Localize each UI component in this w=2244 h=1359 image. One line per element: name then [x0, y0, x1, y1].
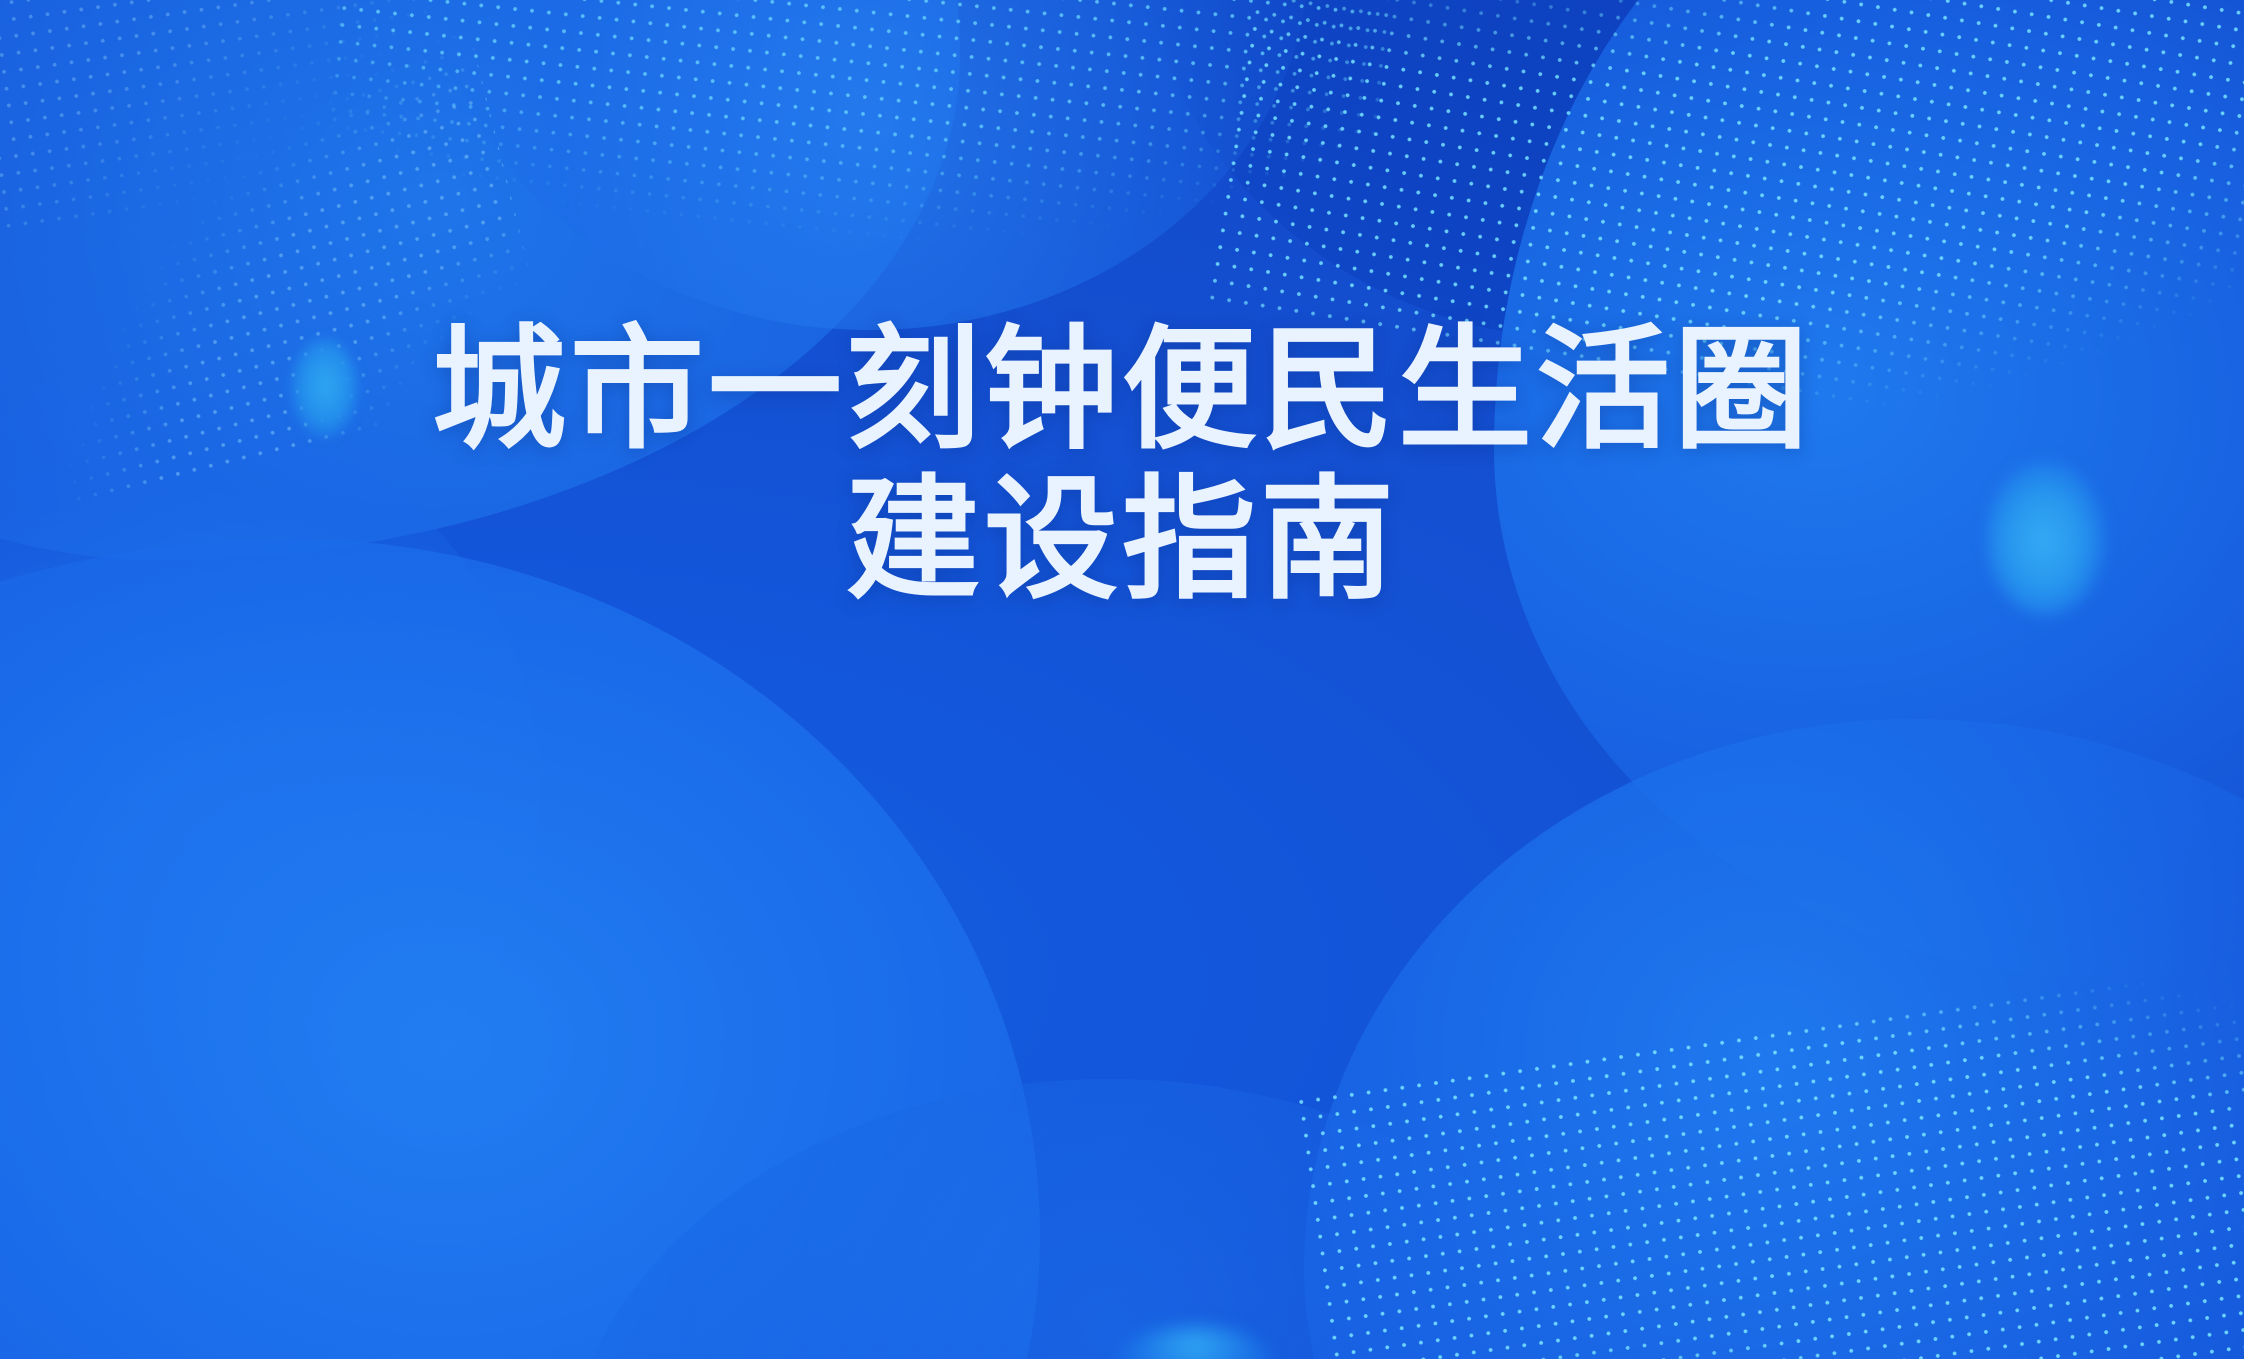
banner-title-line-1: 城市一刻钟便民生活圈	[0, 316, 2244, 466]
background-gradient	[0, 0, 2244, 1359]
banner-canvas: 城市一刻钟便民生活圈 建设指南	[0, 0, 2244, 1359]
banner-title-line-2: 建设指南	[0, 466, 2244, 616]
banner-title: 城市一刻钟便民生活圈 建设指南	[0, 316, 2244, 616]
